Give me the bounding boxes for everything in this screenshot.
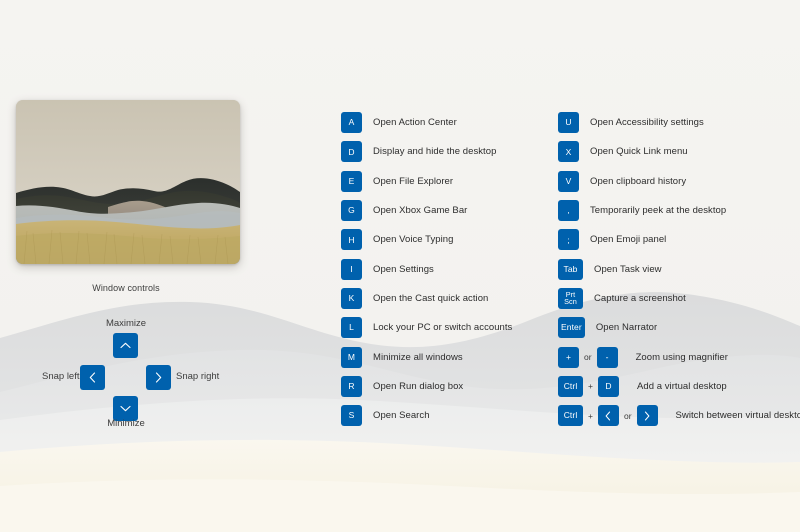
shortcut-row: ;Open Emoji panel bbox=[558, 225, 800, 254]
shortcut-description: Display and hide the desktop bbox=[373, 146, 496, 157]
shortcut-description: Open Action Center bbox=[373, 117, 457, 128]
chevron-up-icon bbox=[120, 342, 131, 349]
shortcut-row: XOpen Quick Link menu bbox=[558, 137, 800, 166]
keycap[interactable]: U bbox=[558, 112, 579, 133]
shortcut-row: GOpen Xbox Game Bar bbox=[341, 196, 512, 225]
keycap[interactable]: G bbox=[341, 200, 362, 221]
keycap[interactable]: Enter bbox=[558, 317, 585, 338]
shortcut-description: Switch between virtual desktops bbox=[676, 410, 800, 421]
shortcut-row: HOpen Voice Typing bbox=[341, 225, 512, 254]
keycap[interactable]: - bbox=[597, 347, 618, 368]
chevron-down-icon bbox=[120, 405, 131, 412]
key-joiner: or bbox=[579, 352, 597, 362]
shortcut-row: Ctrl+orSwitch between virtual desktops bbox=[558, 401, 800, 430]
shortcut-row: ROpen Run dialog box bbox=[341, 372, 512, 401]
snap-left-button[interactable] bbox=[80, 365, 105, 390]
keycap[interactable]: E bbox=[341, 171, 362, 192]
shortcut-description: Open Narrator bbox=[596, 322, 657, 333]
keycap[interactable]: H bbox=[341, 229, 362, 250]
shortcut-row: AOpen Action Center bbox=[341, 108, 512, 137]
shortcut-row: Ctrl+DAdd a virtual desktop bbox=[558, 372, 800, 401]
shortcut-description: Open File Explorer bbox=[373, 176, 453, 187]
keycap[interactable]: M bbox=[341, 347, 362, 368]
shortcut-description: Open the Cast quick action bbox=[373, 293, 488, 304]
key-joiner: or bbox=[619, 411, 637, 421]
shortcuts-poster: Window controls Maximize Snap left bbox=[0, 0, 800, 532]
shortcut-description: Zoom using magnifier bbox=[636, 352, 728, 363]
chevron-right-icon[interactable] bbox=[637, 405, 658, 426]
shortcut-description: Capture a screenshot bbox=[594, 293, 686, 304]
window-controls-title: Window controls bbox=[0, 283, 252, 293]
key-joiner: + bbox=[583, 411, 598, 421]
shortcut-row: EnterOpen Narrator bbox=[558, 313, 800, 342]
keycap[interactable]: + bbox=[558, 347, 579, 368]
shortcut-description: Open Emoji panel bbox=[590, 234, 666, 245]
shortcut-row: LLock your PC or switch accounts bbox=[341, 313, 512, 342]
keycap[interactable]: Ctrl bbox=[558, 405, 583, 426]
shortcut-row: ,Temporarily peek at the desktop bbox=[558, 196, 800, 225]
snap-right-button[interactable] bbox=[146, 365, 171, 390]
keycap[interactable]: K bbox=[341, 288, 362, 309]
maximize-button[interactable] bbox=[113, 333, 138, 358]
shortcut-row: +or-Zoom using magnifier bbox=[558, 342, 800, 371]
shortcut-list-right: UOpen Accessibility settingsXOpen Quick … bbox=[558, 108, 800, 430]
keycap[interactable]: X bbox=[558, 141, 579, 162]
keycap[interactable]: Prt Scn bbox=[558, 288, 583, 309]
keycap[interactable]: Ctrl bbox=[558, 376, 583, 397]
shortcut-row: Prt ScnCapture a screenshot bbox=[558, 284, 800, 313]
keycap[interactable]: I bbox=[341, 259, 362, 280]
key-joiner: + bbox=[583, 381, 598, 391]
shortcut-row: VOpen clipboard history bbox=[558, 167, 800, 196]
chevron-left-icon[interactable] bbox=[598, 405, 619, 426]
maximize-label: Maximize bbox=[0, 318, 252, 329]
shortcut-description: Open Run dialog box bbox=[373, 381, 463, 392]
shortcut-description: Open Voice Typing bbox=[373, 234, 453, 245]
shortcut-row: TabOpen Task view bbox=[558, 254, 800, 283]
chevron-right-icon bbox=[155, 372, 162, 383]
keycap[interactable]: A bbox=[341, 112, 362, 133]
shortcut-description: Minimize all windows bbox=[373, 352, 463, 363]
minimize-label: Minimize bbox=[0, 418, 252, 429]
shortcut-list-left: AOpen Action CenterDDisplay and hide the… bbox=[341, 108, 512, 430]
shortcut-description: Open Settings bbox=[373, 264, 434, 275]
snap-left-label: Snap left bbox=[42, 371, 80, 382]
shortcut-description: Open Task view bbox=[594, 264, 662, 275]
shortcut-row: IOpen Settings bbox=[341, 254, 512, 283]
shortcut-description: Open Xbox Game Bar bbox=[373, 205, 467, 216]
wallpaper-artwork bbox=[16, 100, 240, 264]
shortcut-row: DDisplay and hide the desktop bbox=[341, 137, 512, 166]
shortcut-description: Open Search bbox=[373, 410, 430, 421]
keycap[interactable]: D bbox=[341, 141, 362, 162]
chevron-left-icon bbox=[89, 372, 96, 383]
shortcut-row: MMinimize all windows bbox=[341, 342, 512, 371]
shortcut-description: Open Quick Link menu bbox=[590, 146, 688, 157]
keycap[interactable]: Tab bbox=[558, 259, 583, 280]
shortcut-description: Temporarily peek at the desktop bbox=[590, 205, 726, 216]
keycap[interactable]: ; bbox=[558, 229, 579, 250]
snap-right-label: Snap right bbox=[176, 371, 219, 382]
shortcut-description: Lock your PC or switch accounts bbox=[373, 322, 512, 333]
shortcut-row: KOpen the Cast quick action bbox=[341, 284, 512, 313]
window-controls-diagram: Window controls Maximize Snap left bbox=[0, 283, 252, 438]
keycap[interactable]: L bbox=[341, 317, 362, 338]
keycap[interactable]: D bbox=[598, 376, 619, 397]
keycap[interactable]: , bbox=[558, 200, 579, 221]
keycap[interactable]: R bbox=[341, 376, 362, 397]
shortcut-description: Open clipboard history bbox=[590, 176, 686, 187]
desktop-wallpaper-preview bbox=[16, 100, 240, 264]
shortcut-description: Add a virtual desktop bbox=[637, 381, 727, 392]
shortcut-description: Open Accessibility settings bbox=[590, 117, 704, 128]
shortcut-row: SOpen Search bbox=[341, 401, 512, 430]
keycap[interactable]: V bbox=[558, 171, 579, 192]
shortcut-row: UOpen Accessibility settings bbox=[558, 108, 800, 137]
keycap[interactable]: S bbox=[341, 405, 362, 426]
shortcut-row: EOpen File Explorer bbox=[341, 167, 512, 196]
